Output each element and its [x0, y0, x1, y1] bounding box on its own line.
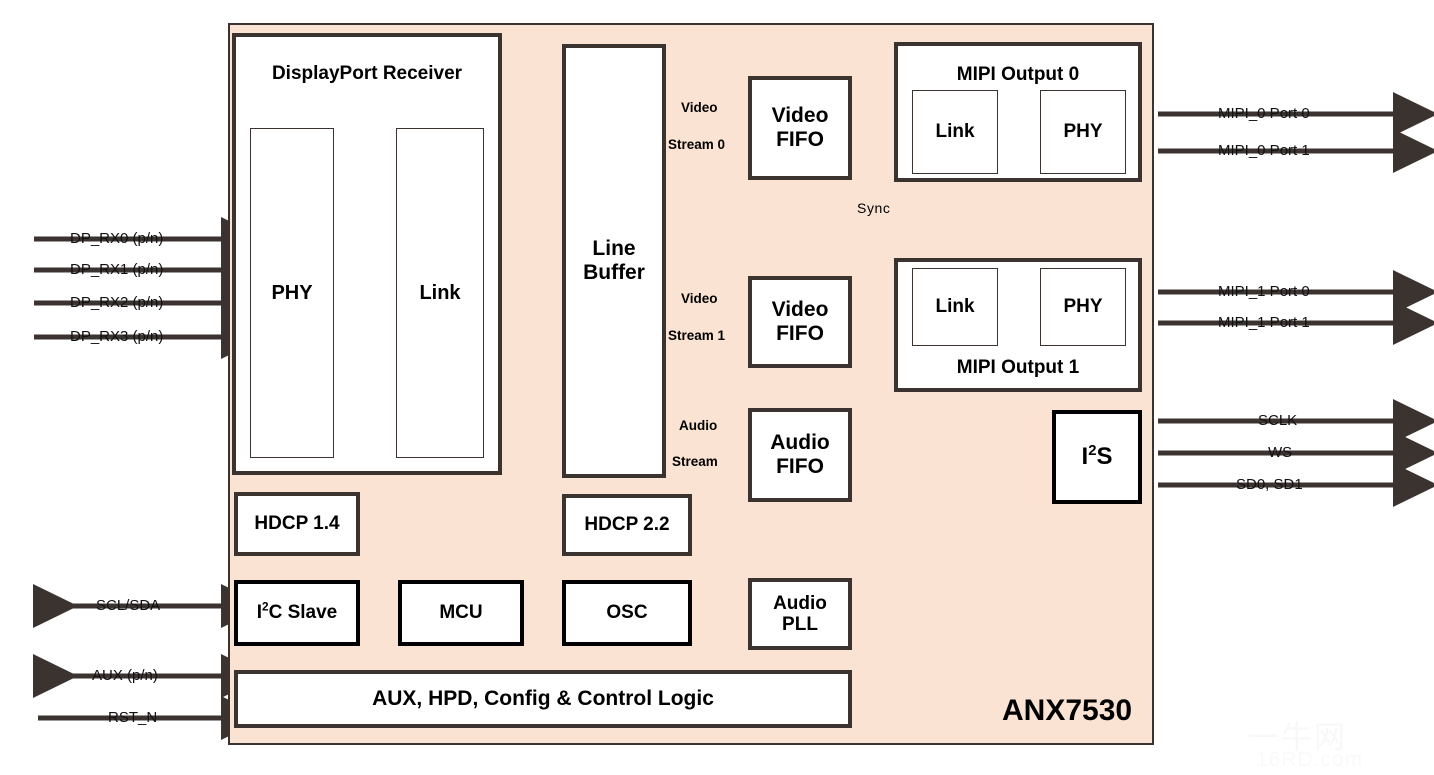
audio-pll-label-1: Audio [773, 593, 827, 614]
pin-label-rst-n: RST_N [108, 709, 157, 726]
line-buffer-label-2: Buffer [583, 261, 645, 284]
block-mcu[interactable]: MCU [398, 580, 524, 646]
block-dp-phy[interactable]: PHY [250, 128, 334, 458]
watermark: 一牛网 16RD.com [1248, 712, 1430, 774]
pin-label-mipi0-port0: MIPI_0 Port 0 [1218, 105, 1310, 122]
pin-label-sd0-sd1: SD0, SD1 [1236, 476, 1303, 493]
chip-name-label: ANX7530 [1002, 694, 1132, 728]
block-control-logic[interactable]: AUX, HPD, Config & Control Logic [234, 670, 852, 728]
control-input-wires [38, 606, 226, 718]
pin-label-sclk: SCLK [1258, 412, 1297, 429]
block-mipi1-phy[interactable]: PHY [1040, 268, 1126, 346]
label-video-stream-0-line2: Stream 0 [668, 137, 725, 152]
pin-label-mipi1-port0: MIPI_1 Port 0 [1218, 283, 1310, 300]
watermark-bottom-text: 16RD.com [1256, 748, 1363, 772]
label-audio-stream-line1: Audio [679, 418, 717, 433]
block-mipi0-phy[interactable]: PHY [1040, 90, 1126, 174]
video-fifo-0-label-1: Video [772, 104, 829, 127]
audio-fifo-label-2: FIFO [776, 455, 824, 478]
video-fifo-0-label-2: FIFO [776, 128, 824, 151]
label-video-stream-1-line2: Stream 1 [668, 328, 725, 343]
pin-label-mipi1-port1: MIPI_1 Port 1 [1218, 314, 1310, 331]
pin-label-dp-rx0: DP_RX0 (p/n) [70, 230, 163, 247]
block-dp-link[interactable]: Link [396, 128, 484, 458]
line-buffer-label-1: Line [592, 237, 635, 260]
video-fifo-1-label-1: Video [772, 298, 829, 321]
label-video-stream-1-line1: Video [681, 291, 718, 306]
block-hdcp-14[interactable]: HDCP 1.4 [234, 492, 360, 556]
block-audio-fifo[interactable]: Audio FIFO [748, 408, 852, 502]
pin-label-scl-sda: SCL/SDA [96, 597, 160, 614]
audio-fifo-label-1: Audio [770, 431, 829, 454]
video-fifo-1-label-2: FIFO [776, 322, 824, 345]
block-hdcp-22[interactable]: HDCP 2.2 [562, 494, 692, 556]
dp-rx-input-wires [34, 239, 226, 337]
displayport-receiver-title: DisplayPort Receiver [236, 63, 498, 84]
block-i2c-slave[interactable]: I2C Slave [234, 580, 360, 646]
audio-pll-label-2: PLL [782, 614, 818, 635]
pin-label-aux: AUX (p/n) [92, 667, 158, 684]
pin-label-dp-rx3: DP_RX3 (p/n) [70, 328, 163, 345]
label-video-stream-0-line1: Video [681, 100, 718, 115]
mipi-output-0-title: MIPI Output 0 [898, 64, 1138, 85]
block-diagram-canvas: DisplayPort Receiver PHY Link Line Buffe… [0, 0, 1434, 775]
block-line-buffer[interactable]: Line Buffer [562, 44, 666, 478]
block-video-fifo-1[interactable]: Video FIFO [748, 276, 852, 368]
pin-label-ws: WS [1268, 444, 1292, 461]
mipi-output-1-title: MIPI Output 1 [898, 357, 1138, 378]
i2c-suffix: C Slave [269, 602, 338, 623]
i2s-suffix: S [1096, 443, 1112, 470]
block-osc[interactable]: OSC [562, 580, 692, 646]
label-audio-stream-line2: Stream [672, 454, 718, 469]
block-mipi0-link[interactable]: Link [912, 90, 998, 174]
label-sync: Sync [857, 200, 891, 216]
block-video-fifo-0[interactable]: Video FIFO [748, 76, 852, 180]
block-i2s[interactable]: I2S [1052, 410, 1142, 504]
pin-label-dp-rx2: DP_RX2 (p/n) [70, 294, 163, 311]
block-audio-pll[interactable]: Audio PLL [748, 578, 852, 650]
watermark-top-text: 一牛网 [1248, 712, 1430, 750]
pin-label-dp-rx1: DP_RX1 (p/n) [70, 261, 163, 278]
pin-label-mipi0-port1: MIPI_0 Port 1 [1218, 142, 1310, 159]
block-mipi1-link[interactable]: Link [912, 268, 998, 346]
